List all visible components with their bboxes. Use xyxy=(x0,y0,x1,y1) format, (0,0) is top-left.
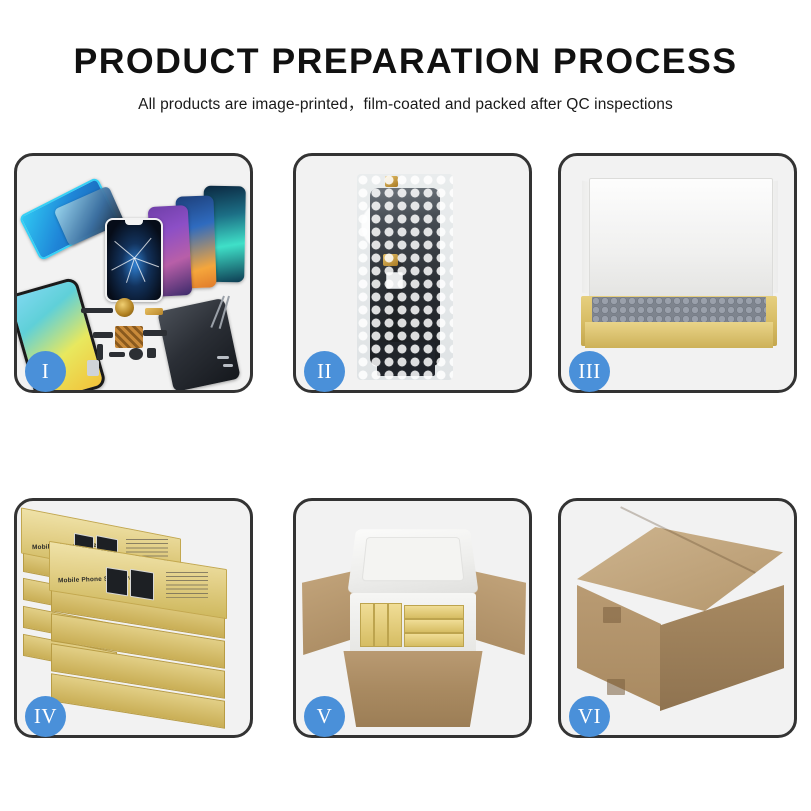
step-badge-6: VI xyxy=(569,696,610,737)
packed-unit xyxy=(404,633,464,647)
sim-tray-part xyxy=(87,360,99,376)
packed-unit xyxy=(374,603,388,647)
step-badge-1: I xyxy=(25,351,66,392)
foam-box-tray xyxy=(350,593,476,655)
step-badge-3: III xyxy=(569,351,610,392)
process-step-panel-1[interactable]: I xyxy=(14,153,253,393)
page-subtitle: All products are image-printed，film-coat… xyxy=(0,92,811,114)
page-header: PRODUCT PREPARATION PROCESS All products… xyxy=(0,0,811,114)
earpiece-part xyxy=(81,308,113,313)
screw-part xyxy=(217,356,229,359)
process-step-panel-4[interactable]: Mobile Phone Spare Parts Mobile Phone Sp… xyxy=(14,498,253,738)
foam-padding xyxy=(592,297,766,322)
box-screen-image xyxy=(130,569,154,601)
crack-line xyxy=(114,241,135,258)
gold-connector-part xyxy=(145,308,163,315)
foam-lid-recess xyxy=(362,537,465,581)
kraft-box-front-wall xyxy=(585,322,773,348)
bubble-texture xyxy=(357,174,453,380)
process-step-panel-2[interactable]: II xyxy=(293,153,532,393)
box-spec-lines xyxy=(166,572,208,598)
foam-box-lid xyxy=(347,529,478,593)
box-screen-image xyxy=(106,567,128,596)
white-box-lid xyxy=(589,178,773,302)
carton-tab xyxy=(607,679,625,695)
flex-cable-part xyxy=(143,330,167,336)
small-part xyxy=(97,344,103,360)
packed-unit xyxy=(404,619,464,633)
bubble-wrap-bag xyxy=(357,174,453,380)
packed-unit xyxy=(388,603,402,647)
process-step-panel-6[interactable]: VI xyxy=(558,498,797,738)
speaker-coil-part xyxy=(115,298,134,317)
carton-front-wall xyxy=(334,651,492,727)
packed-unit xyxy=(404,605,464,619)
screw-part xyxy=(223,364,233,367)
process-step-panel-3[interactable]: III xyxy=(558,153,797,393)
ic-chip-part xyxy=(115,326,143,348)
step-badge-4: IV xyxy=(25,696,66,737)
battery-connector-part xyxy=(147,348,156,358)
process-step-grid: I II xyxy=(0,0,811,811)
process-step-panel-5[interactable]: V xyxy=(293,498,532,738)
page-title: PRODUCT PREPARATION PROCESS xyxy=(0,44,811,79)
carton-tab xyxy=(603,607,621,623)
packed-unit xyxy=(360,603,374,647)
opened-phone-back xyxy=(157,298,241,390)
flex-cable-part xyxy=(93,332,113,338)
step-badge-2: II xyxy=(304,351,345,392)
center-black-phone xyxy=(105,218,163,302)
step-badge-5: V xyxy=(304,696,345,737)
camera-module-part xyxy=(129,348,143,360)
crack-line xyxy=(134,238,151,259)
small-part xyxy=(109,352,125,357)
